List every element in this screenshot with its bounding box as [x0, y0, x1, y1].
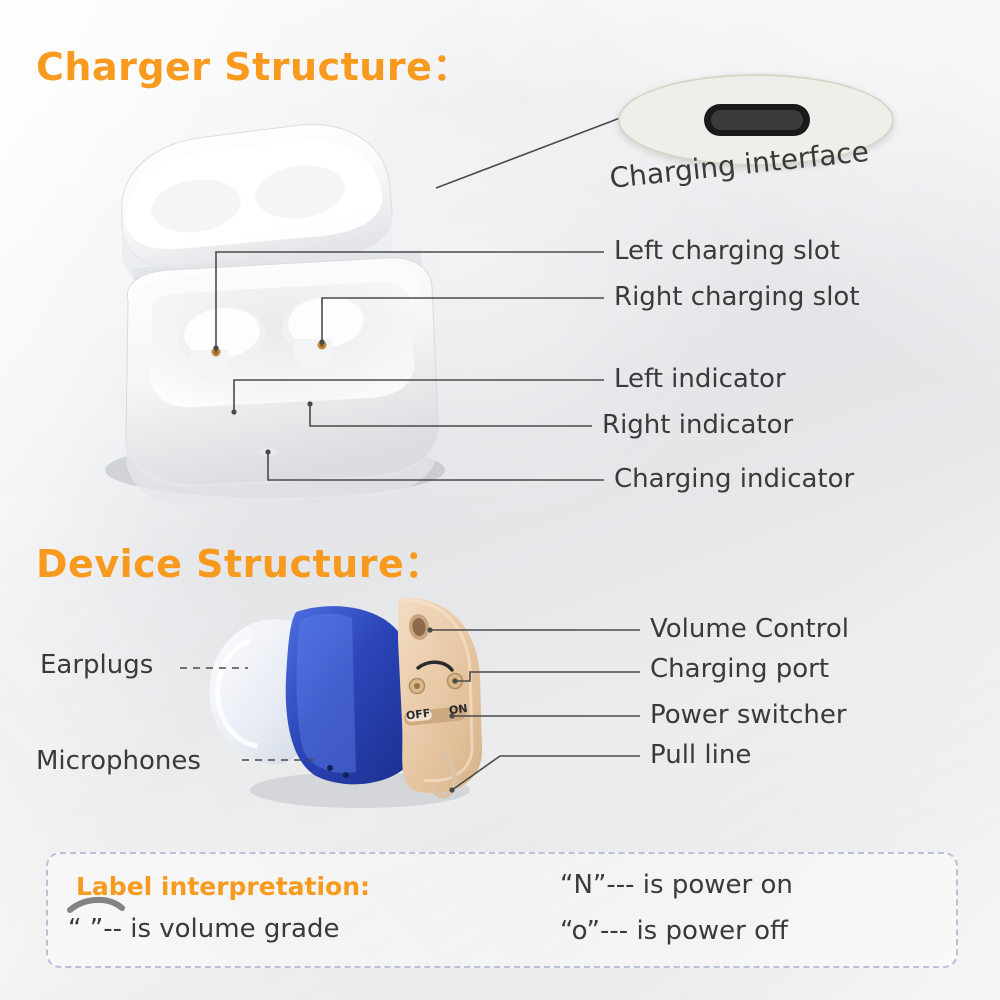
legend-title: Label interpretation:	[76, 872, 370, 901]
charging-port-label: Charging port	[650, 654, 829, 684]
right-charging-slot-label: Right charging slot	[614, 282, 860, 312]
charging-indicator-dot	[259, 448, 277, 456]
device-faceplate	[398, 598, 482, 796]
charger-case-lid	[122, 124, 392, 296]
left-indicator-dot	[230, 408, 237, 415]
left-indicator-label: Left indicator	[614, 364, 786, 394]
device-blue-shell	[286, 606, 412, 784]
infographic-page: Charger Structure： Device Structure：	[0, 0, 1000, 1000]
power-on-marking: ON	[448, 702, 468, 717]
microphone-dots	[327, 765, 349, 778]
label-interpretation-box: Label interpretation: “ ”-- is volume gr…	[46, 852, 958, 968]
legend-power-on: “N”--- is power on	[560, 870, 793, 900]
pull-line-cord	[434, 752, 454, 796]
earplugs-label: Earplugs	[40, 650, 153, 680]
volume-control-label: Volume Control	[650, 614, 849, 644]
pull-line-label: Pull line	[650, 740, 751, 770]
left-charging-slot-label: Left charging slot	[614, 236, 840, 266]
power-switcher-label: Power switcher	[650, 700, 847, 730]
charger-case-body	[126, 258, 438, 505]
microphones-label: Microphones	[36, 746, 201, 776]
legend-power-off: “o”--- is power off	[560, 916, 788, 946]
charging-port-contacts	[410, 674, 463, 694]
charging-indicator-label: Charging indicator	[614, 464, 854, 494]
right-indicator-dot	[306, 400, 313, 407]
hearing-aid-device	[210, 598, 482, 808]
charger-leader-dots	[213, 339, 324, 454]
volume-control-wheel	[407, 613, 430, 642]
right-charging-slot-cavity	[279, 291, 373, 371]
left-charging-slot-cavity	[175, 302, 269, 382]
right-indicator-label: Right indicator	[602, 410, 793, 440]
device-structure-heading: Device Structure：	[36, 533, 443, 588]
charger-structure-heading: Charger Structure：	[36, 36, 471, 91]
earplug-dome	[210, 619, 315, 764]
power-off-marking: OFF	[405, 707, 431, 723]
charger-leader-lines	[216, 118, 620, 480]
legend-volume-grade: “ ”-- is volume grade	[68, 914, 339, 944]
